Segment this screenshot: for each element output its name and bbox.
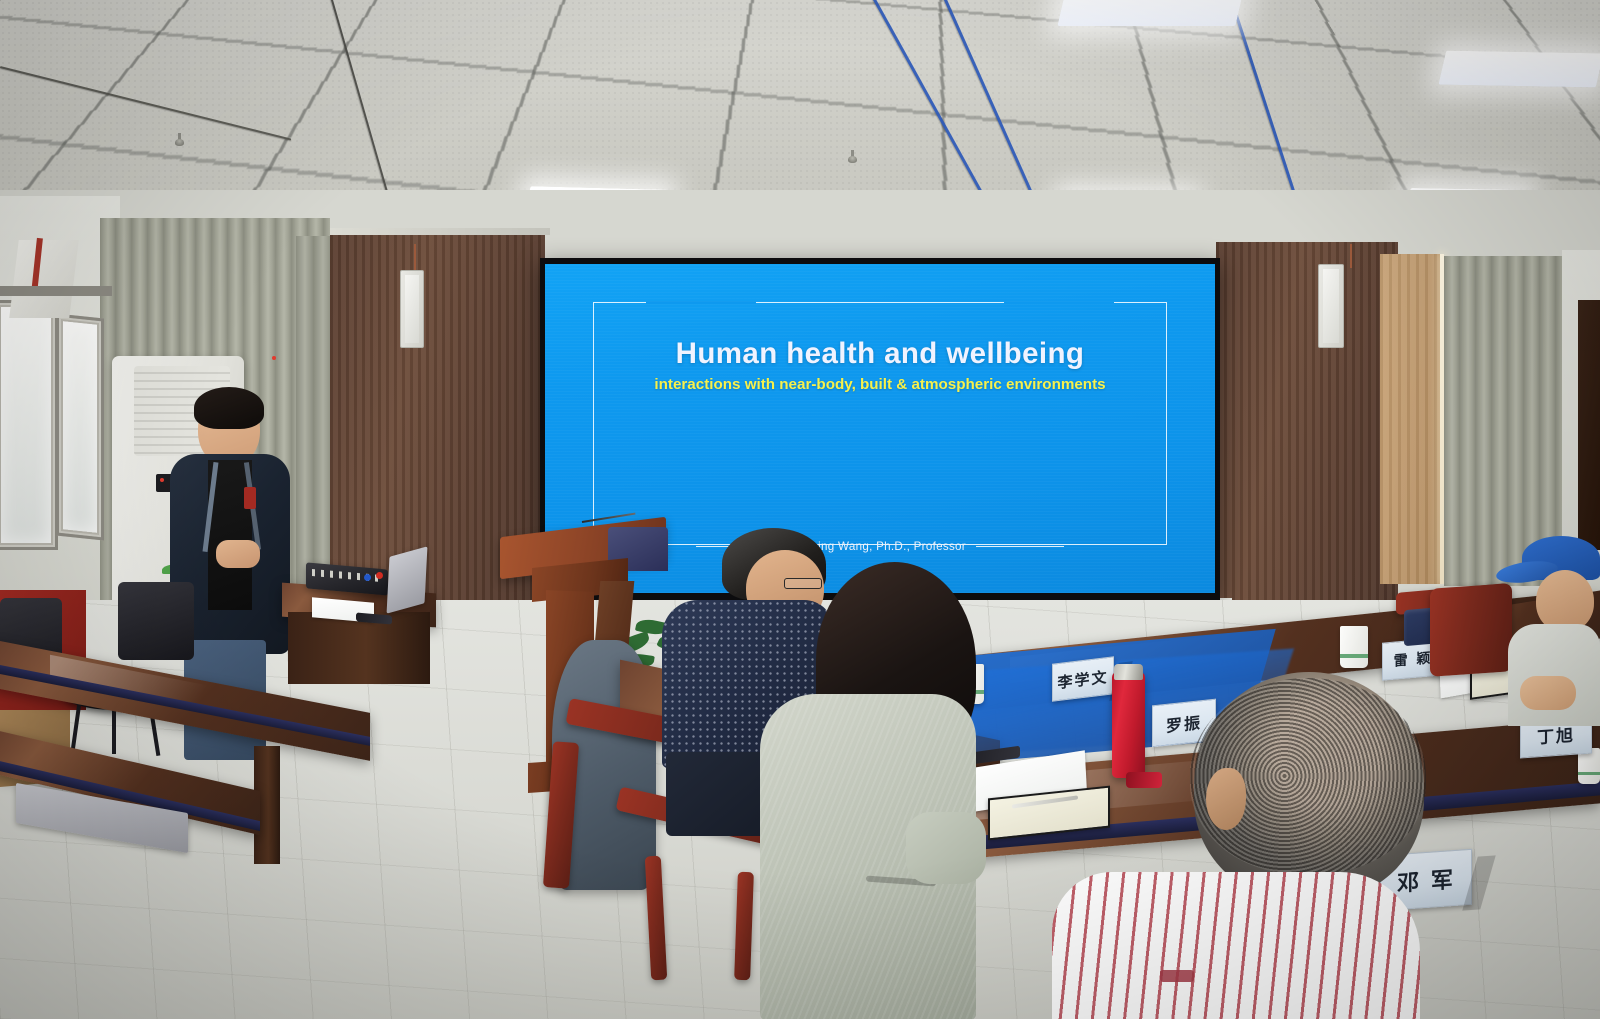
presenter-laptop[interactable] <box>387 546 428 613</box>
window-glass <box>63 321 97 533</box>
conference-room-photo: Human health and wellbeing interactions … <box>0 0 1600 1019</box>
attendee-hand <box>1520 676 1576 710</box>
attendee-ear <box>1206 768 1246 830</box>
shirt-logo <box>1160 970 1194 982</box>
speaker-cable <box>1350 244 1352 268</box>
attendee-arm <box>906 812 986 884</box>
wall-speaker-left <box>400 270 424 348</box>
speaker-cable <box>414 244 416 272</box>
attendee-woman-blazer <box>760 562 990 1019</box>
right-doorway <box>1578 300 1600 550</box>
wall-dark-wood-right <box>1216 242 1398 632</box>
attendee-head <box>1536 570 1594 632</box>
window-curtain <box>9 240 79 318</box>
mixer-knob-blue[interactable] <box>364 574 371 581</box>
ac-power-led <box>160 478 164 482</box>
office-chair <box>118 582 194 660</box>
placard-name: 雷 颖 <box>1394 647 1433 670</box>
window-left-open-pane <box>56 313 104 540</box>
attendee-torso <box>1508 624 1600 726</box>
slide-subtitle: interactions with near-body, built & atm… <box>618 375 1142 394</box>
ceiling-light-panel <box>1057 0 1244 26</box>
attendee-torso-striped <box>1052 872 1420 1019</box>
ceiling-light-panel <box>1438 51 1600 88</box>
presenter-hands <box>216 540 260 568</box>
attendee-man-striped <box>1024 672 1424 1019</box>
presenter-badge <box>244 487 256 509</box>
author-rule-right <box>976 546 1064 547</box>
window-glass <box>1 307 51 543</box>
wall-speaker-right <box>1318 264 1344 348</box>
ac-power-led <box>272 356 276 360</box>
attendee-blue-cap <box>1498 536 1600 726</box>
presenter-hair <box>194 387 264 429</box>
fire-sprinkler-icon <box>848 150 857 164</box>
window-frame-top <box>0 286 112 296</box>
mixer-knob-red[interactable] <box>376 572 383 579</box>
wall-light-wood <box>1380 254 1442 584</box>
slide-border-notch-right <box>1004 301 1114 304</box>
slide-border-notch-left <box>646 301 756 304</box>
wall-trim-light <box>330 228 550 235</box>
presenter-desk-body <box>288 612 430 684</box>
window-left-outer <box>0 300 58 550</box>
paper-cup <box>1340 626 1368 668</box>
slide-title: Human health and wellbeing <box>594 337 1166 371</box>
fire-sprinkler-icon <box>175 133 184 147</box>
